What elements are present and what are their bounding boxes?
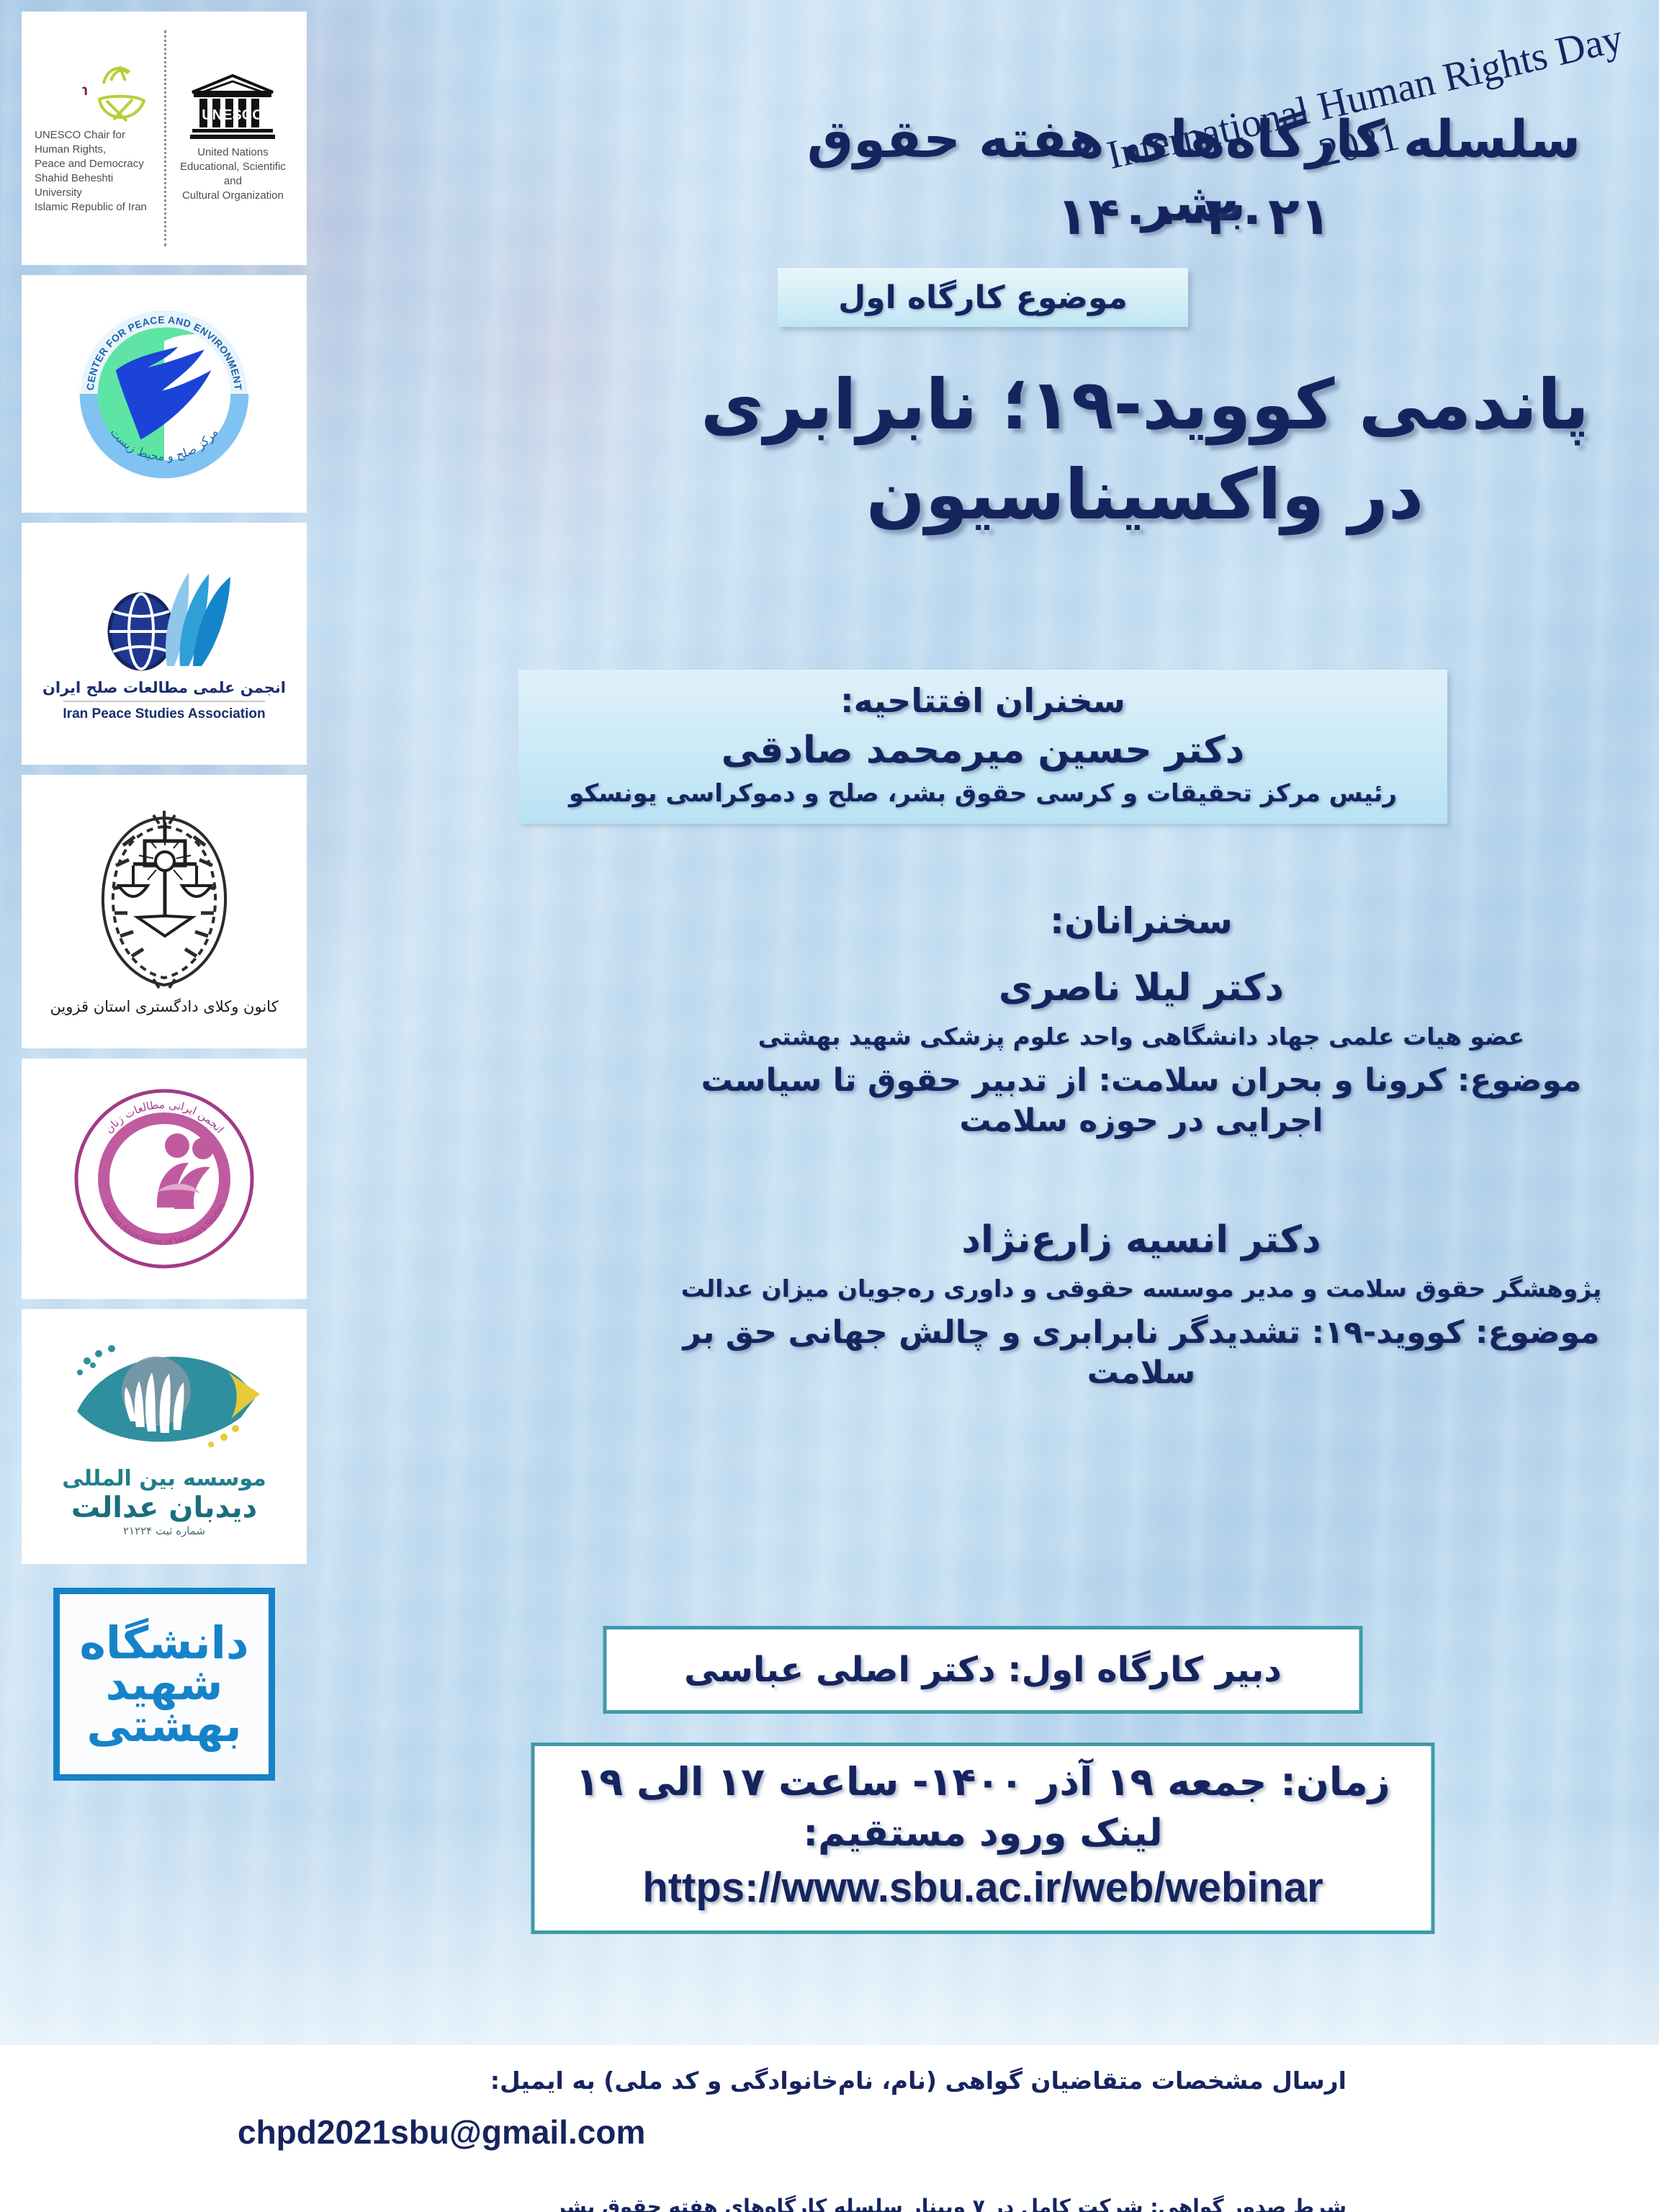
certificate-request-note: ارسال مشخصات متقاضیان گواهی (نام، نام‌خا… xyxy=(490,2067,1346,2095)
speaker-topic: موضوع: کووید-۱۹: تشدیدگر نابرابری و چالش… xyxy=(662,1313,1620,1394)
ipsa-english-name: Iran Peace Studies Association xyxy=(63,706,265,722)
workshop-secretary-label: دبیر کارگاه اول: دکتر اصلی عباسی xyxy=(684,1650,1282,1690)
sbu-persian-wordmark: دانشگاه شهید بهشتی xyxy=(79,1622,248,1745)
speaker-topic: موضوع: کرونا و بحران سلامت: از تدبیر حقو… xyxy=(662,1061,1620,1142)
speaker-affiliation: پژوهشگر حقوق سلامت و مدیر موسسه حقوقی و … xyxy=(662,1274,1620,1303)
logo-justice-watch-institute: موسسه بین المللی دیدبان عدالت شماره ثبت … xyxy=(22,1309,307,1564)
event-webinar-link[interactable]: https://www.sbu.ac.ir/web/webinar xyxy=(557,1863,1410,1912)
unesco-caption: United Nations Educational, Scientific a… xyxy=(172,145,294,202)
sbu-emblem: دانشگاه شهید بهشتی xyxy=(53,1588,275,1781)
workshop-secretary-box: دبیر کارگاه اول: دکتر اصلی عباسی xyxy=(603,1626,1363,1714)
logo-divider xyxy=(163,30,166,246)
unesco-chair-caption: UNESCO Chair for Human Rights, Peace and… xyxy=(35,128,157,215)
speaker-affiliation: عضو هیات علمی جهاد دانشگاهی واحد علوم پز… xyxy=(662,1022,1620,1051)
speaker-entry: دکتر انسیه زارع‌نژاد پژوهشگر حقوق سلامت … xyxy=(662,1218,1620,1394)
logo-center-peace-environment: CENTER FOR PEACE AND ENVIRONMENT مرکز صل… xyxy=(22,275,307,513)
speaker-name: دکتر انسیه زارع‌نژاد xyxy=(662,1218,1620,1262)
divider xyxy=(63,701,266,702)
workshop-topic-badge: موضوع کارگاه اول xyxy=(778,268,1188,327)
unitwin-wordmark: uniTwin xyxy=(82,82,88,99)
opening-speaker-label: سخنران افتتاحیه: xyxy=(533,681,1433,720)
svg-text:UNESCO: UNESCO xyxy=(202,107,264,123)
logo-shahid-beheshti-university: دانشگاه شهید بهشتی xyxy=(22,1574,307,1794)
page-title: پاندمی کووید-۱۹؛ نابرابری در واکسیناسیون xyxy=(677,360,1613,540)
eye-hands-globe-icon xyxy=(61,1336,267,1466)
logo-iran-peace-studies: انجمن علمی مطالعات صلح ایران Iran Peace … xyxy=(22,523,307,765)
poster-content: International Human Rights Day 2021 سلسل… xyxy=(331,0,1635,2212)
event-link-label: لینک ورود مستقیم: xyxy=(557,1812,1410,1855)
series-years: ۱۴۰۰-۲۰۲۱ xyxy=(769,186,1619,246)
jwi-persian-line1: موسسه بین المللی xyxy=(62,1466,266,1491)
opening-speaker-name: دکتر حسین میرمحمد صادقی xyxy=(533,729,1433,772)
unitwin-globe-icon: uniTwin xyxy=(82,62,157,125)
event-poster: UNESCO United Nations Educational, Scien… xyxy=(0,0,1659,2212)
logo-qazvin-bar-association: کانون وکلای دادگستری استان قزوین xyxy=(22,775,307,1048)
qazvin-bar-persian-name: کانون وکلای دادگستری استان قزوین xyxy=(50,998,278,1015)
speakers-label: سخنرانان: xyxy=(662,900,1620,942)
logo-iranian-womens-studies: انجمن ایرانی مطالعات زنان Iranian Associ… xyxy=(22,1058,307,1299)
workshop-topic-badge-label: موضوع کارگاه اول xyxy=(838,279,1128,316)
speaker-entry: دکتر لیلا ناصری عضو هیات علمی جهاد دانشگ… xyxy=(662,966,1620,1142)
event-info-box: زمان: جمعه ۱۹ آذر ۱۴۰۰- ساعت ۱۷ الی ۱۹ ل… xyxy=(531,1743,1435,1934)
contact-email[interactable]: chpd2021sbu@gmail.com xyxy=(238,2113,645,2152)
speaker-name: دکتر لیلا ناصری xyxy=(662,966,1620,1010)
logo-unesco-unitwin: UNESCO United Nations Educational, Scien… xyxy=(22,12,307,265)
scales-of-justice-wreath-icon xyxy=(81,808,247,994)
sponsor-logo-rail: UNESCO United Nations Educational, Scien… xyxy=(20,12,308,1794)
certificate-condition-note: شرط صدور گواهی: شرکت کامل در ۷ وبینار سل… xyxy=(554,2195,1346,2212)
jwi-persian-line2: دیدبان عدالت xyxy=(71,1491,257,1524)
speakers-section: سخنرانان: دکتر لیلا ناصری عضو هیات علمی … xyxy=(662,900,1620,1393)
event-datetime: زمان: جمعه ۱۹ آذر ۱۴۰۰- ساعت ۱۷ الی ۱۹ xyxy=(557,1759,1410,1804)
speaker-spacer xyxy=(662,1142,1620,1194)
opening-speaker-box: سخنران افتتاحیه: دکتر حسین میرمحمد صادقی… xyxy=(518,670,1447,824)
unesco-temple-icon: UNESCO xyxy=(188,73,277,143)
ipsa-persian-name: انجمن علمی مطالعات صلح ایران xyxy=(42,679,286,696)
jwi-registration-number: شماره ثبت ۲۱۲۲۴ xyxy=(123,1524,205,1537)
peace-dove-globe-icon: CENTER FOR PEACE AND ENVIRONMENT مرکز صل… xyxy=(74,304,254,484)
opening-speaker-affiliation: رئیس مرکز تحقیقات و کرسی حقوق بشر، صلح و… xyxy=(533,779,1433,808)
two-figures-ring-icon: انجمن ایرانی مطالعات زنان Iranian Associ… xyxy=(69,1084,259,1274)
globe-leaf-icon xyxy=(92,565,236,673)
